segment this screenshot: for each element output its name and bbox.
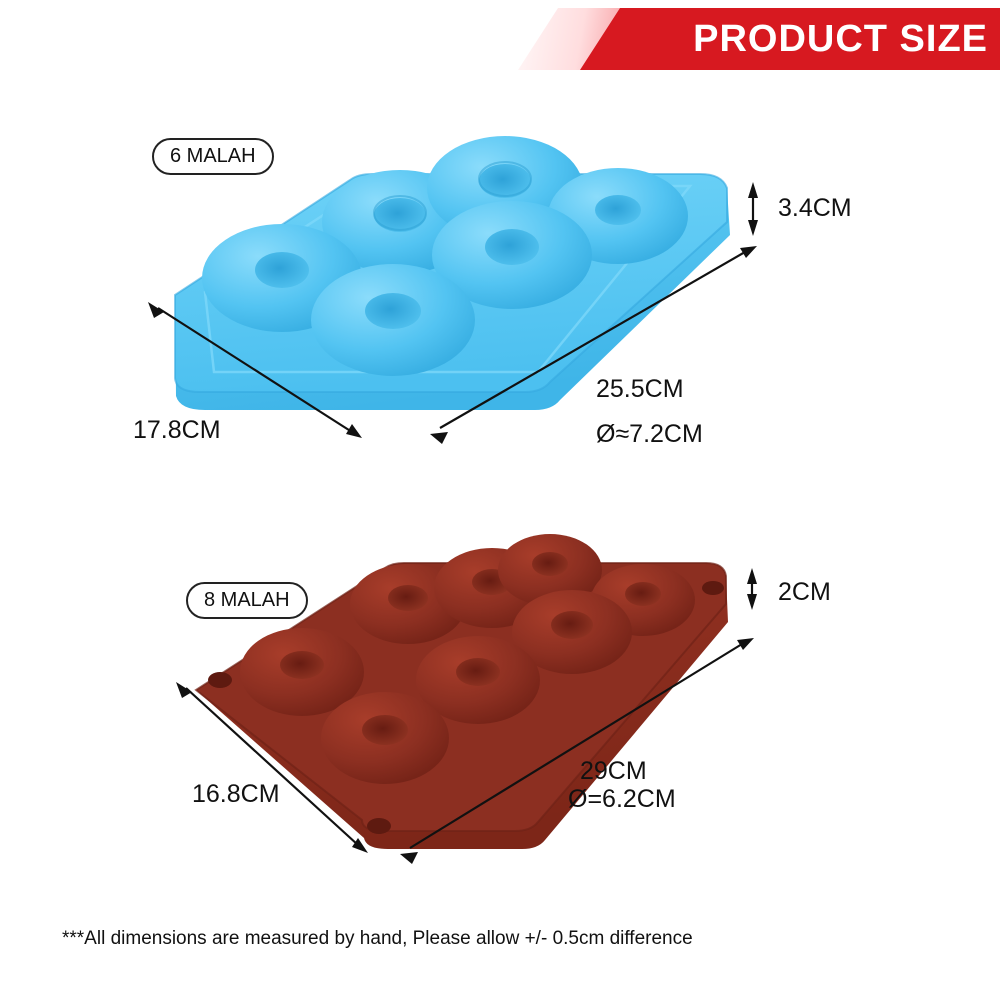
brown-mold-illustration bbox=[0, 0, 1000, 1000]
product-size-infographic: PRODUCT SIZE bbox=[0, 0, 1000, 1000]
brown-donut bbox=[321, 692, 449, 784]
brown-height-label: 2CM bbox=[778, 578, 831, 607]
mounting-hole bbox=[208, 672, 232, 688]
brown-height-arrow bbox=[747, 568, 757, 610]
brown-width-label: 16.8CM bbox=[192, 780, 280, 809]
brown-length-label: 29CM bbox=[580, 757, 647, 786]
badge-8-malah: 8 MALAH bbox=[186, 582, 308, 619]
brown-diameter-label: Ø=6.2CM bbox=[568, 785, 676, 814]
mounting-hole bbox=[702, 581, 724, 595]
footnote-text: ***All dimensions are measured by hand, … bbox=[62, 928, 693, 950]
mounting-hole bbox=[367, 818, 391, 834]
